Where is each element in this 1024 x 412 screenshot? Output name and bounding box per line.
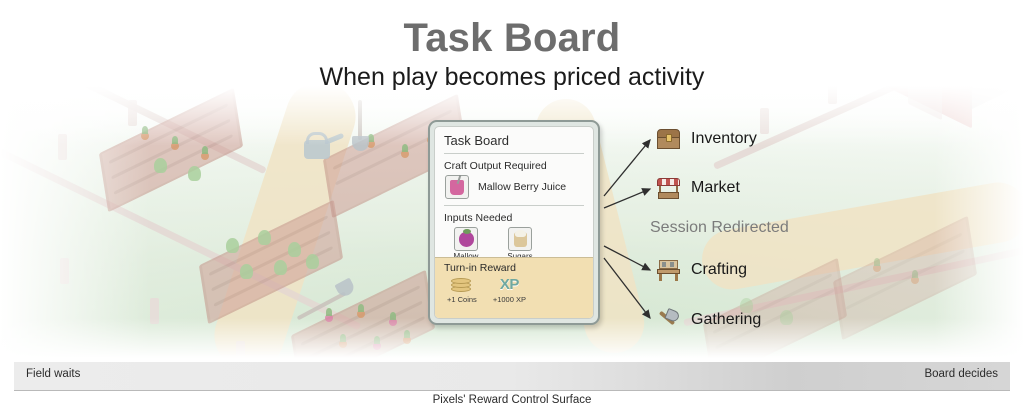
reward-xp: XP +1000 XP (493, 276, 526, 304)
inputs-needed-label: Inputs Needed (435, 206, 593, 227)
craft-output-name: Mallow Berry Juice (478, 181, 566, 193)
craft-output-label: Craft Output Required (435, 154, 593, 175)
footer-caption: Pixels' Reward Control Surface (0, 394, 1024, 406)
destination-label: Inventory (691, 130, 757, 148)
reward-coins: +1 Coins (447, 276, 477, 304)
xp-icon: XP (493, 276, 526, 294)
destination-crafting[interactable]: Crafting (655, 256, 747, 283)
market-stall-icon (655, 174, 682, 201)
page-subtitle: When play becomes priced activity (0, 63, 1024, 92)
turn-in-reward-section: Turn-in Reward +1 Coins XP +1000 XP (435, 257, 593, 318)
destination-inventory[interactable]: Inventory (655, 125, 757, 152)
destination-label: Crafting (691, 261, 747, 279)
craft-output-row[interactable]: Mallow Berry Juice (435, 175, 593, 205)
task-board-card: Task Board Craft Output Required Mallow … (434, 126, 594, 319)
session-redirected-note: Session Redirected (650, 219, 789, 237)
footer-left-label: Field waits (26, 368, 80, 380)
reward-list: +1 Coins XP +1000 XP (435, 276, 593, 304)
axe-icon (655, 306, 682, 333)
destination-market[interactable]: Market (655, 174, 740, 201)
panel-title: Task Board (435, 127, 593, 153)
footer-right-label: Board decides (924, 368, 998, 380)
destination-gathering[interactable]: Gathering (655, 306, 761, 333)
footer-bar: Field waits Board decides (14, 362, 1010, 391)
screenshot-root: Task Board When play becomes priced acti… (0, 0, 1024, 412)
destination-label: Gathering (691, 311, 761, 329)
workbench-icon (655, 256, 682, 283)
reward-coins-label: +1 Coins (447, 295, 477, 304)
page-title: Task Board (0, 16, 1024, 61)
sugar-sack-icon (508, 227, 532, 251)
berry-icon (454, 227, 478, 251)
reward-xp-label: +1000 XP (493, 295, 526, 304)
coins-icon (451, 276, 473, 294)
chest-icon (655, 125, 682, 152)
destination-label: Market (691, 179, 740, 197)
juice-glass-icon (445, 175, 469, 199)
task-board-panel[interactable]: Task Board Craft Output Required Mallow … (428, 120, 600, 325)
turn-in-reward-label: Turn-in Reward (435, 258, 593, 276)
